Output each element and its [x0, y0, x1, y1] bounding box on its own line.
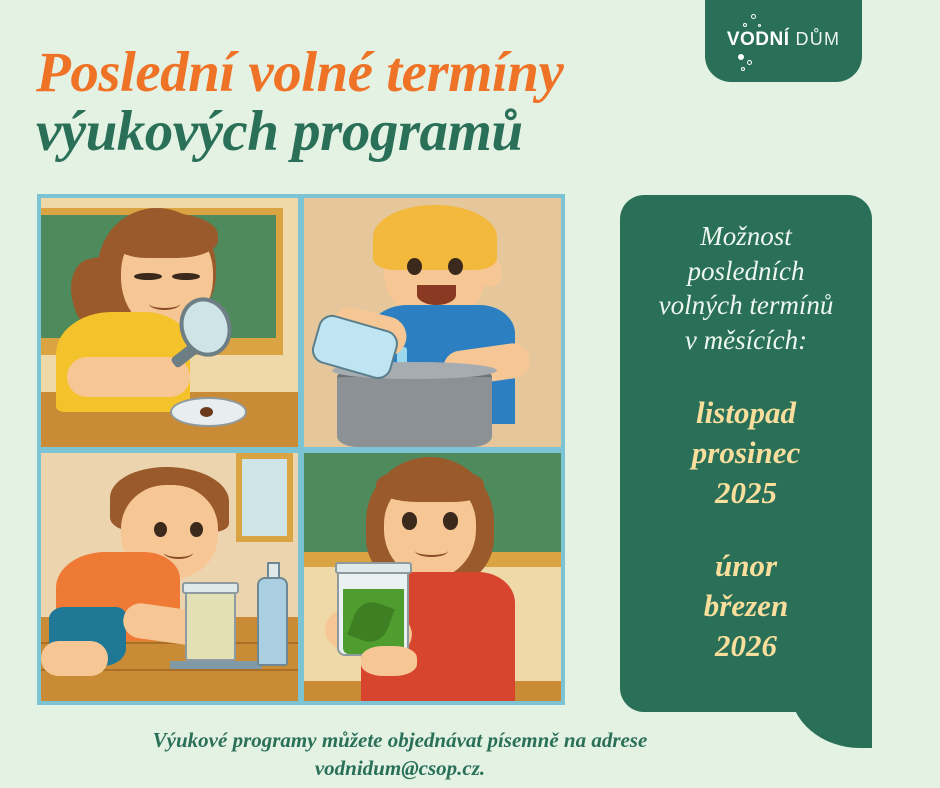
brand-logo-inner: VODNÍ DŮM	[705, 0, 862, 82]
bubble-icon	[758, 24, 761, 27]
callout-year: 2026	[626, 626, 866, 666]
collage-image-boy-with-water-filter	[41, 453, 298, 702]
logo-word-primary: VODNÍ	[727, 29, 790, 51]
callout-month: listopad	[626, 393, 866, 433]
footer-line-2: vodnidum@csop.cz.	[0, 754, 800, 782]
callout-intro-line: volných termínů	[626, 288, 866, 323]
bubble-icon	[751, 14, 756, 19]
page-title: Poslední volné termíny výukových program…	[36, 44, 716, 160]
bubble-icon	[743, 23, 747, 27]
callout-month: únor	[626, 546, 866, 586]
collage-image-boy-pouring-water	[304, 198, 561, 447]
callout-intro-line: posledních	[626, 254, 866, 289]
title-line-2: výukových programů	[36, 103, 716, 160]
collage-image-girl-holding-jar	[304, 453, 561, 702]
bubble-icon	[747, 60, 752, 65]
bubble-icon	[738, 54, 744, 60]
title-line-1: Poslední volné termíny	[36, 44, 716, 101]
photo-collage	[37, 194, 565, 705]
brand-logo-wordmark: VODNÍ DŮM	[727, 29, 840, 51]
callout-content: Možnost posledních volných termínů v měs…	[620, 195, 872, 712]
callout-year: 2025	[626, 473, 866, 513]
collage-image-girl-with-magnifying-glass	[41, 198, 298, 447]
brand-logo-badge: VODNÍ DŮM	[705, 0, 862, 82]
callout-month: březen	[626, 586, 866, 626]
logo-word-secondary: DŮM	[796, 29, 841, 50]
callout-month: prosinec	[626, 433, 866, 473]
availability-callout: Možnost posledních volných termínů v měs…	[620, 195, 872, 748]
callout-intro-line: Možnost	[626, 219, 866, 254]
bubble-icon	[741, 67, 745, 71]
callout-intro-line: v měsících:	[626, 323, 866, 358]
